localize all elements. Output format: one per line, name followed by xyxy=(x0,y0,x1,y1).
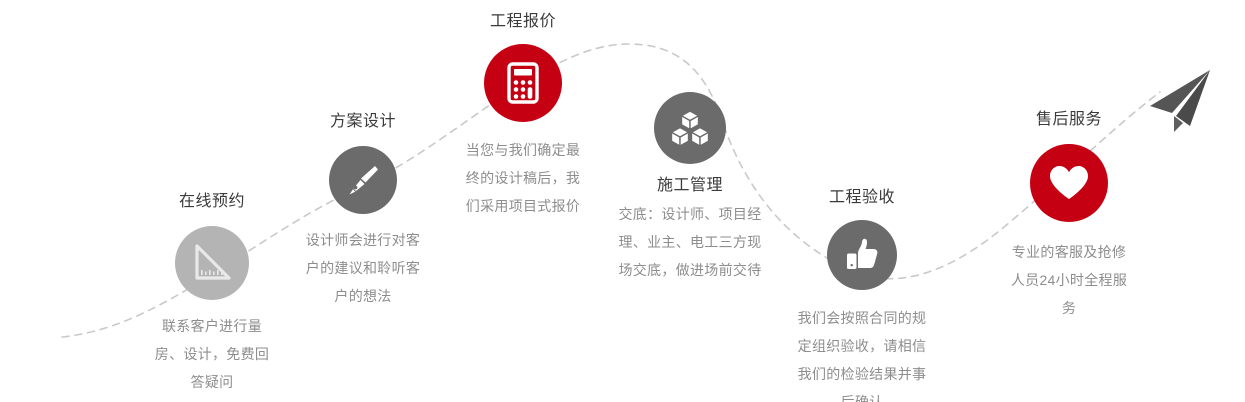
process-flow-infographic: 在线预约 联系客户进行量 房、设计，免费回 答疑 xyxy=(0,0,1245,402)
desc-line: 户的想法 xyxy=(274,282,452,310)
desc-line: 当您与我们确定最 xyxy=(428,136,618,164)
flow-step-4[interactable]: 施工管理 交底：设计师、项目经 理、业主、电工三方现 场交底，做进场前交待 xyxy=(597,92,783,284)
desc-line: 们采用项目式报价 xyxy=(428,192,618,220)
calculator-icon xyxy=(502,61,544,105)
flow-step-6-title: 售后服务 xyxy=(978,110,1160,130)
flow-step-5-title: 工程验收 xyxy=(770,188,954,208)
triangle-ruler-icon xyxy=(191,242,233,284)
desc-line: 场交底，做进场前交待 xyxy=(597,256,783,284)
desc-line: 设计师会进行对客 xyxy=(274,226,452,254)
desc-line: 我们的检验结果并事 xyxy=(770,360,954,388)
flow-step-5-desc: 我们会按照合同的规 定组织验收，请相信 我们的检验结果并事 后确认 xyxy=(770,304,954,402)
desc-line: 理、业主、电工三方现 xyxy=(597,228,783,256)
thumbs-up-icon xyxy=(842,235,882,275)
flow-step-2-title: 方案设计 xyxy=(274,112,452,132)
desc-line: 交底：设计师、项目经 xyxy=(597,200,783,228)
flow-step-3-icon-circle[interactable] xyxy=(484,44,562,122)
flow-step-6-icon-circle[interactable] xyxy=(1030,144,1108,222)
desc-line: 终的设计稿后，我 xyxy=(428,164,618,192)
flow-step-2-desc: 设计师会进行对客 户的建议和聆听客 户的想法 xyxy=(274,226,452,310)
flow-step-5-icon-circle[interactable] xyxy=(827,220,897,290)
flow-step-6-desc: 专业的客服及抢修 人员24小时全程服 务 xyxy=(978,238,1160,322)
heart-icon xyxy=(1047,162,1091,204)
fountain-pen-icon xyxy=(344,161,382,199)
desc-line: 专业的客服及抢修 xyxy=(978,238,1160,266)
desc-line: 联系客户进行量 xyxy=(123,312,301,340)
cubes-icon xyxy=(669,108,711,148)
flow-step-6[interactable]: 售后服务 专业的客服及抢修 人员24小时全程服 务 xyxy=(978,110,1160,322)
desc-line: 答疑问 xyxy=(123,368,301,396)
flow-step-2-icon-circle[interactable] xyxy=(329,146,397,214)
flow-step-1-icon-circle[interactable] xyxy=(175,226,249,300)
desc-line: 我们会按照合同的规 xyxy=(770,304,954,332)
flow-step-4-desc: 交底：设计师、项目经 理、业主、电工三方现 场交底，做进场前交待 xyxy=(597,200,783,284)
desc-line: 人员24小时全程服 xyxy=(978,266,1160,294)
desc-line: 务 xyxy=(978,294,1160,322)
desc-line: 后确认 xyxy=(770,388,954,402)
desc-line: 定组织验收，请相信 xyxy=(770,332,954,360)
flow-step-4-icon-circle[interactable] xyxy=(654,92,726,164)
desc-line: 户的建议和聆听客 xyxy=(274,254,452,282)
flow-step-1-desc: 联系客户进行量 房、设计，免费回 答疑问 xyxy=(123,312,301,396)
flow-step-3-desc: 当您与我们确定最 终的设计稿后，我 们采用项目式报价 xyxy=(428,136,618,220)
flow-step-2[interactable]: 方案设计 设计师会进行对客 户的建议和聆听客 户的想法 xyxy=(274,112,452,310)
desc-line: 房、设计，免费回 xyxy=(123,340,301,368)
flow-step-5[interactable]: 工程验收 我们会按照合同的规 定组织验收，请相信 我们的检验结果并事 后确认 xyxy=(770,188,954,402)
flow-step-3[interactable]: 工程报价 xyxy=(428,12,618,220)
flow-step-3-title: 工程报价 xyxy=(428,12,618,32)
flow-step-4-title: 施工管理 xyxy=(597,176,783,196)
